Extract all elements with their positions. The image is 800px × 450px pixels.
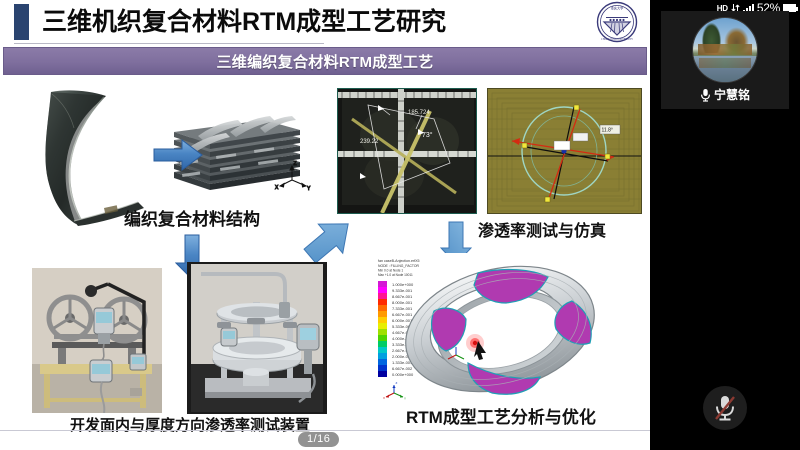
video-call-panel: HD 52% [650, 0, 800, 450]
svg-text:7.333e-001: 7.333e-001 [392, 306, 413, 311]
annotation-dim-b: 239.22 [360, 139, 379, 145]
blade-preform-photo [18, 84, 153, 229]
svg-text:X: X [383, 396, 385, 400]
svg-text:6.667e-001: 6.667e-001 [392, 312, 413, 317]
mic-mute-button[interactable] [703, 386, 747, 430]
label-weave-structure: 编织复合材料结构 [124, 211, 260, 228]
svg-text:0.000e+000: 0.000e+000 [392, 372, 414, 377]
legend-header-3: Min 0.0 at Node 1 [378, 269, 403, 273]
slide-bottom-divider [0, 430, 650, 431]
in-plane-permeability-rig-photo [32, 268, 162, 413]
axis-label-y: Y [307, 186, 311, 192]
annotation-angle: 73° [422, 131, 433, 139]
page-indicator: 1/16 [298, 432, 339, 447]
university-seal-logo: 重庆大学 CHONGQING UNIVERSITY [592, 1, 642, 43]
through-thickness-permeability-rig-photo [187, 262, 327, 414]
section-banner: 三维编织复合材料RTM成型工艺 [3, 47, 647, 75]
legend-header-4: Max +1.0 at Node 10011 [378, 273, 413, 277]
avatar-image-detail [698, 44, 752, 56]
annotation-dim-a: 185.724 [408, 110, 430, 116]
svg-text:9.333e-001: 9.333e-001 [392, 288, 413, 293]
rtm-ring-simulation: fan caseB-Anjection.erfX5 NODE : FILLING… [350, 253, 640, 405]
axis-label-x: X [275, 185, 279, 191]
svg-text:8.667e-001: 8.667e-001 [392, 294, 413, 299]
title-accent-bar [14, 4, 29, 40]
permeability-simulation-mesh: 11.8° [487, 88, 642, 214]
permeability-test-photo: 239.22 185.724 73° [337, 88, 477, 214]
legend-header-1: fan caseB-Anjection.erfX5 [378, 259, 420, 263]
label-permeability: 渗透率测试与仿真 [478, 224, 606, 240]
svg-text:Z: Z [396, 381, 398, 385]
avatar [692, 17, 758, 83]
participant-name-row: 宁慧铭 [661, 86, 789, 103]
title-divider [14, 43, 324, 44]
svg-text:CHONGQING UNIVERSITY: CHONGQING UNIVERSITY [601, 38, 633, 41]
svg-text:Y: Y [404, 397, 406, 401]
microphone-icon [700, 88, 711, 102]
legend-header-2: NODE : FILLING_FACTOR [378, 264, 420, 268]
axis-label-z: Z [294, 161, 297, 167]
svg-text:6.667e-002: 6.667e-002 [392, 366, 413, 371]
slide-title: 三维机织复合材料RTM成型工艺研究 [42, 2, 446, 43]
microphone-muted-icon [712, 393, 738, 423]
shared-slide-area[interactable]: 三维机织复合材料RTM成型工艺研究 重庆大学 CHO [0, 0, 650, 450]
label-rtm-analysis: RTM成型工艺分析与优化 [406, 409, 596, 426]
arrow-blade-to-weave [152, 137, 204, 173]
avatar-image-detail [699, 58, 750, 68]
svg-text:6.000e-001: 6.000e-001 [392, 318, 413, 323]
section-banner-text: 三维编织复合材料RTM成型工艺 [217, 51, 434, 72]
svg-text:重庆大学: 重庆大学 [611, 6, 624, 11]
annotation-sim-angle: 11.8° [602, 128, 613, 134]
participant-name: 宁慧铭 [714, 86, 750, 103]
svg-text:8.000e-001: 8.000e-001 [392, 300, 413, 305]
self-video-tile[interactable]: 宁慧铭 [661, 11, 789, 109]
slide-title-row: 三维机织复合材料RTM成型工艺研究 重庆大学 CHO [0, 0, 650, 45]
app-root: 三维机织复合材料RTM成型工艺研究 重庆大学 CHO [0, 0, 800, 450]
svg-text:1.000e+000: 1.000e+000 [392, 282, 414, 287]
